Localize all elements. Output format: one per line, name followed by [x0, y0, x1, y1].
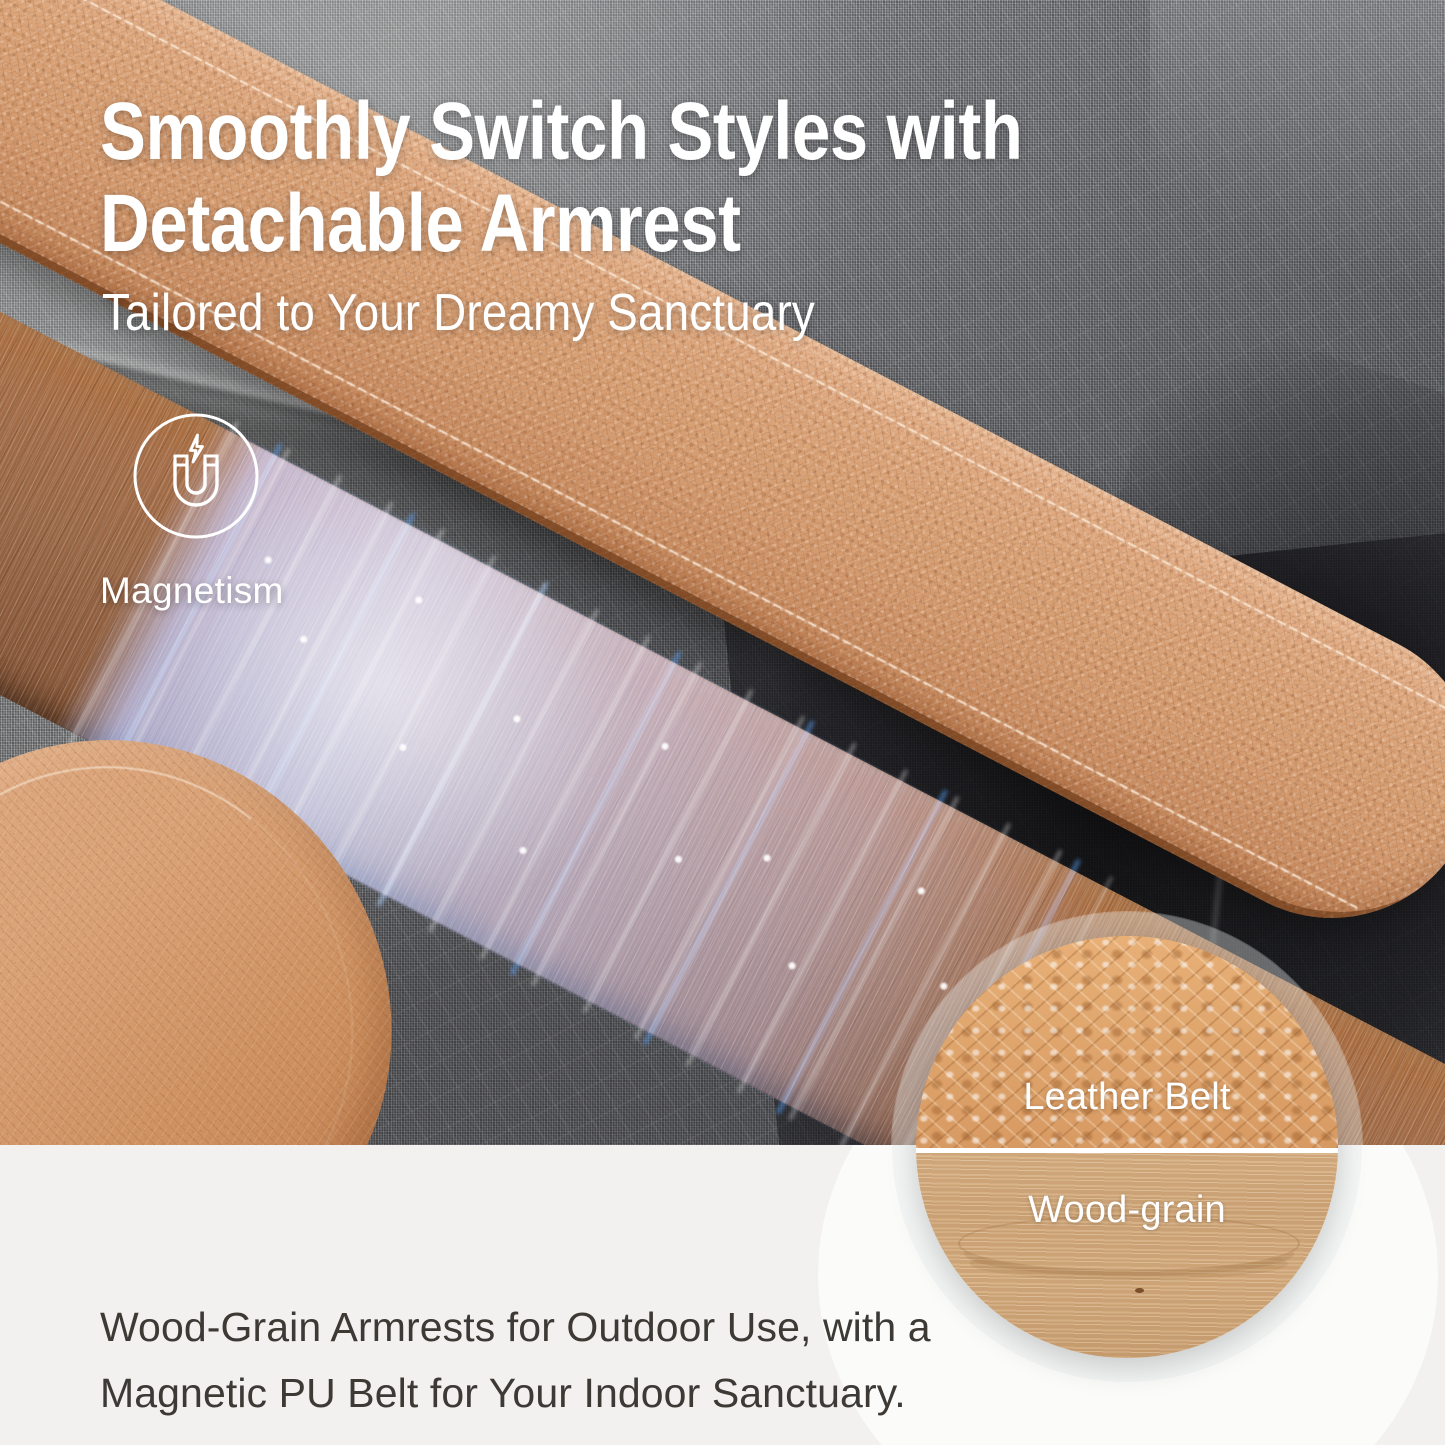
magnetism-label: Magnetism: [100, 570, 284, 612]
headline: Smoothly Switch Styles with Detachable A…: [100, 86, 1023, 270]
inset-label-wood-grain: Wood-grain: [916, 1189, 1338, 1232]
headline-line-2: Detachable Armrest: [100, 178, 1023, 270]
magnet-icon: [132, 412, 260, 540]
caption-line-2: Magnetic PU Belt for Your Indoor Sanctua…: [100, 1360, 1000, 1426]
inset-label-leather-belt: Leather Belt: [916, 1076, 1338, 1119]
caption-line-1: Wood-Grain Armrests for Outdoor Use, wit…: [100, 1294, 1000, 1360]
caption-text: Wood-Grain Armrests for Outdoor Use, wit…: [100, 1294, 1000, 1427]
subtitle: Tailored to Your Dreamy Sanctuary: [102, 283, 815, 343]
wood-knot: [1135, 1288, 1144, 1293]
headline-line-1: Smoothly Switch Styles with: [100, 86, 1023, 178]
product-feature-image: Leather Belt Wood-grain Smoothly Switch …: [0, 0, 1445, 1445]
